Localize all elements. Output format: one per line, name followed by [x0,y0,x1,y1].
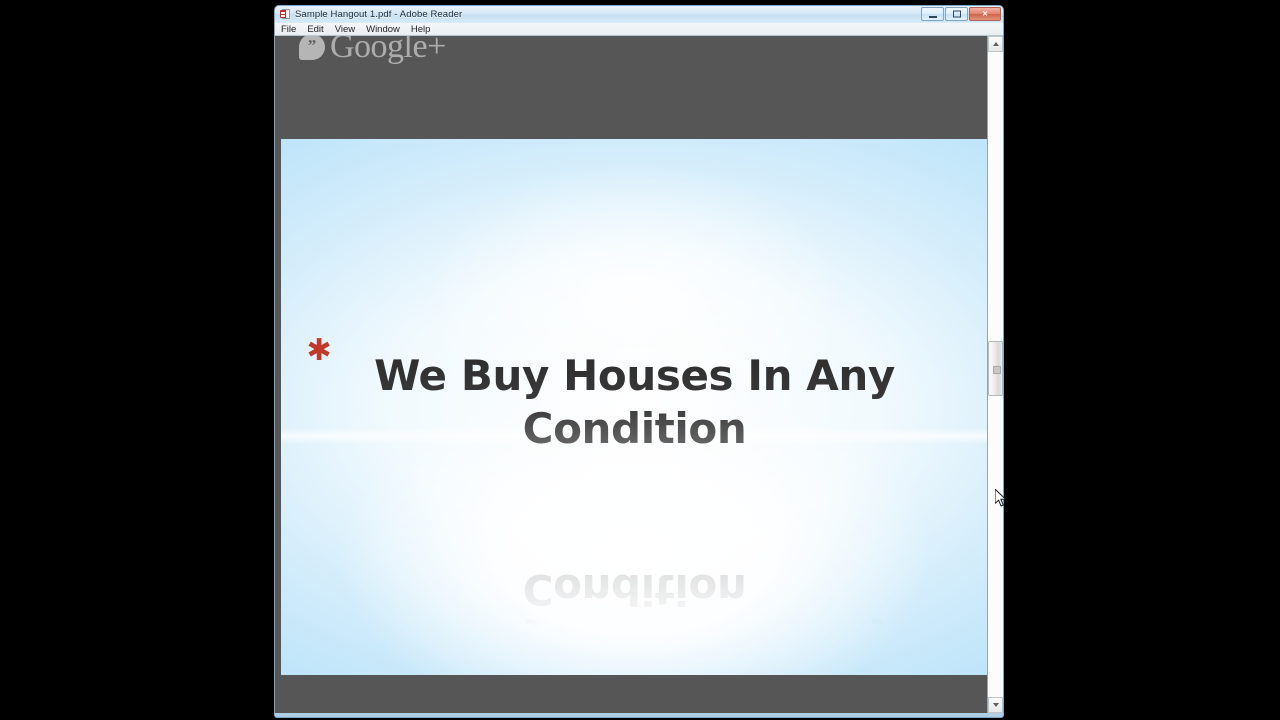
adobe-reader-icon [280,9,291,20]
document-viewer: ” Google+ ✱ We Buy Houses In Any Conditi… [275,36,1003,713]
close-icon: × [981,10,990,19]
pdf-slide: ✱ We Buy Houses In Any Condition We Buy … [281,139,987,675]
google-plus-hangout-quote-icon: ” [299,36,325,60]
menu-bar: File Edit View Window Help [275,23,1003,36]
window-controls: × [921,7,1001,21]
google-plus-wordmark: Google+ [330,36,446,64]
window-titlebar[interactable]: Sample Hangout 1.pdf - Adobe Reader × [275,6,1003,23]
menu-item-window[interactable]: Window [366,24,400,35]
scroll-up-arrow-icon[interactable] [988,36,1003,52]
menu-item-help[interactable]: Help [411,24,431,35]
adobe-reader-window: Sample Hangout 1.pdf - Adobe Reader × Fi… [274,5,1004,718]
slide-headline: We Buy Houses In Any Condition [325,349,945,455]
pdf-page-area[interactable]: ” Google+ ✱ We Buy Houses In Any Conditi… [275,36,987,713]
window-title: Sample Hangout 1.pdf - Adobe Reader [295,9,462,20]
asterisk-bullet-icon: ✱ [307,340,329,362]
screen-root: Sample Hangout 1.pdf - Adobe Reader × Fi… [0,0,1280,720]
close-button[interactable]: × [969,7,1001,21]
menu-item-file[interactable]: File [281,24,296,35]
slide-headline-reflection: We Buy Houses In Any Condition [325,563,945,669]
google-plus-header-band: ” Google+ [275,36,987,111]
google-plus-logo: ” Google+ [299,36,446,64]
scroll-down-arrow-icon[interactable] [988,697,1003,713]
maximize-icon [953,11,961,18]
quote-glyph: ” [308,41,317,51]
maximize-button[interactable] [945,7,968,21]
minimize-icon [929,16,937,18]
vertical-scrollbar[interactable] [987,36,1003,713]
slide-content: ✱ We Buy Houses In Any Condition We Buy … [281,349,987,455]
menu-item-view[interactable]: View [335,24,355,35]
scrollbar-track[interactable] [988,52,1003,697]
scrollbar-thumb[interactable] [988,341,1003,396]
headline-block: ✱ We Buy Houses In Any Condition We Buy … [325,349,945,455]
minimize-button[interactable] [921,7,944,21]
menu-item-edit[interactable]: Edit [307,24,323,35]
